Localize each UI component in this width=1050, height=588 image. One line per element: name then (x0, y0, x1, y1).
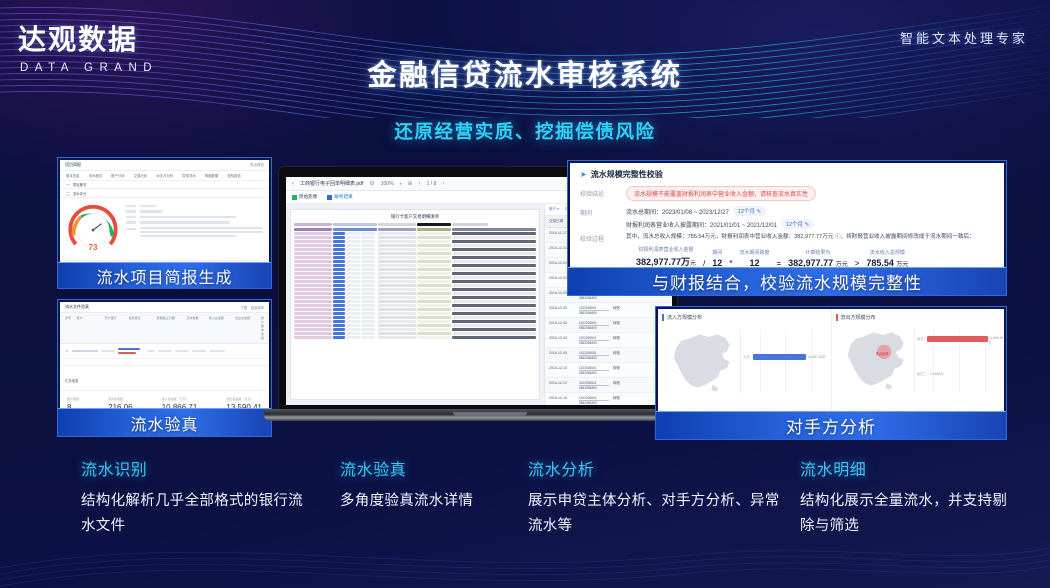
table-row[interactable] (60, 344, 269, 359)
table-row[interactable]: 2016-12-1011020265010562066490转账 (545, 363, 672, 378)
row-account: 11020265010562066490 (579, 306, 609, 315)
verify-th-2: 开户银行 (105, 316, 126, 340)
period-1-text: 财报利润表营业收入披露期间： (626, 223, 710, 229)
row-label-period: 期间 (580, 206, 626, 229)
verify-th-3: 验真结论 (129, 316, 154, 340)
chart-1-bar (927, 336, 989, 342)
doc-title: 银行卡客户交易明细清单 (294, 214, 536, 220)
row-date: 2016-12-15 (549, 396, 575, 405)
row-note: 转账 (613, 381, 631, 390)
page-subtitle: 还原经营实质、挖掘偿债风险 (0, 118, 1050, 144)
caption-counterparty: 对手方分析 (656, 411, 1006, 439)
verify-th-6: 收入总金额 (209, 316, 232, 340)
row-note: 转账 (613, 366, 631, 375)
row-label-process: 校验过程 (580, 234, 626, 268)
table-row[interactable]: 2016-12-0511020265010562066490转账 (545, 348, 672, 363)
brand-tagline: 智能文本处理专家 (900, 28, 1028, 47)
mode-tab-0[interactable]: 原始影像 (292, 194, 317, 200)
report-header-title: 项目简报 (65, 162, 81, 168)
row-date: 2016-12-03 (549, 321, 575, 330)
term-head-0: 财报利润表营业收入金额 (636, 246, 696, 253)
slide-canvas: 达观数据 DATA GRAND 智能文本处理专家 金融信贷流水审核系统 还原经营… (0, 0, 1050, 588)
panel-completeness[interactable]: ➤ 流水规模完整性校验 校验结论 流水规模不能覆盖财报利润表中营业收入金额，请核… (567, 160, 1007, 296)
verify-action-0[interactable]: 下载 (241, 306, 248, 310)
row-account: 11020265010562066490 (579, 366, 609, 375)
table-row[interactable]: 2016-12-0311020265010562066490转账 (545, 303, 672, 318)
row-note: 转账 (613, 306, 631, 315)
caption-report: 流水项目简报生成 (58, 262, 271, 288)
row-note: 转账 (613, 396, 631, 405)
row-note: 转账 (613, 321, 631, 330)
page-total: 8 (434, 181, 437, 187)
chevron-down-icon[interactable]: ▾ (400, 181, 402, 186)
chart-0-bar-value: 15,467.84万 (808, 354, 826, 359)
row-note: 转账 (613, 351, 631, 360)
feature-column-2: 流水分析 展示申贷主体分析、对手方分析、异常流水等 (528, 456, 783, 539)
settings-icon[interactable]: ⚙ (369, 180, 374, 187)
laptop-hinge-notch (453, 412, 527, 416)
gauge-value: 73 (66, 243, 120, 252)
row-date: 2016-12-10 (549, 366, 575, 375)
period-1-tag[interactable]: 12个月 ✎ (781, 219, 814, 229)
verify-header-title: 流水文件验真 (65, 304, 89, 310)
report-section-1: 一、项目概况 (66, 182, 86, 187)
formula-row: 财报利润表营业收入金额 382,977.77万元 / 期间 12 * 流水期间跨… (626, 246, 994, 268)
period-0-text: 流水总期间： (626, 210, 662, 216)
chart-1-second-label: 出方二：13,646万 (917, 371, 944, 376)
row-date: 2016-12-05 (549, 351, 575, 360)
completeness-title: 流水规模完整性校验 (591, 169, 663, 180)
period-1-range: 2021/01/01 ~ 2021/12/01 (710, 223, 777, 229)
report-tab-5[interactable]: 异常流水 (182, 173, 196, 178)
row-note: 转账 (613, 336, 631, 345)
verify-sum-label-1: 流水总笔数 (108, 397, 132, 401)
chevron-right-icon[interactable]: ➤ (580, 170, 587, 179)
chart-1-bar-label: 出方 (917, 337, 924, 342)
zoom-reset-icon[interactable]: ⊕ (408, 180, 413, 187)
china-map-inflow (662, 325, 740, 397)
panel-counterparty[interactable]: 流入方规模分布 入方 15,467.84万 (655, 306, 1007, 440)
chart-1-title: 流出方规模分布 (836, 314, 1001, 321)
row-account: 11020265010562066490 (579, 321, 609, 330)
term-value-0: 382,977.77万 (636, 257, 690, 267)
chart-0-title: 流入方规模分布 (662, 314, 827, 321)
row-date: 2016-12-03 (549, 306, 575, 315)
report-tab-4[interactable]: 对手方分析 (156, 173, 173, 178)
verify-sum-label-2: 收入总金额（万元） (162, 397, 198, 401)
row-date: 2016-12-04 (549, 336, 575, 345)
filter-account[interactable]: 账户 ▾ (549, 207, 559, 212)
report-tab-0[interactable]: 基本信息 (66, 173, 80, 178)
term-head-8: 流水收入总规模 (866, 249, 908, 256)
page-current: 1 (427, 181, 430, 187)
verify-action-1[interactable]: 批量操作 (251, 306, 264, 310)
feature-desc-2: 展示申贷主体分析、对手方分析、异常流水等 (528, 489, 783, 539)
feature-desc-3: 结构化展示全量流水，并支持剔除与筛选 (800, 489, 1015, 539)
report-section-2: 二、流水评分 (66, 191, 86, 196)
screenshot-report: 项目简报 导出报告 基本信息 流水概览 账户分析 交易分析 对手方分析 异常流水… (60, 160, 269, 264)
table-row[interactable]: 2016-12-0311020265010562066490转账 (545, 318, 672, 333)
screenshot-verify: 流水文件验真 下载 批量操作 序号 账户 开户银行 验真结论 账期起止日期 流水… (60, 302, 269, 410)
feature-desc-1: 多角度验真流水详情 (340, 489, 540, 514)
gauge-chart: 73 (66, 202, 120, 256)
chart-0-bar-label: 入方 (743, 355, 750, 360)
checkbox-icon[interactable] (327, 195, 332, 200)
report-export-button[interactable]: 导出报告 (250, 163, 264, 168)
verify-th-7: 支出总金额 (235, 316, 258, 340)
china-map-outflow (836, 323, 914, 395)
page-title: 金融信贷流水审核系统 (0, 52, 1050, 94)
table-row[interactable]: 2016-12-1211020265010562066490转账 (545, 378, 672, 393)
term-head-2: 期间 (712, 249, 722, 256)
verify-th-5: 流水笔数 (187, 316, 206, 340)
period-0-tag[interactable]: 12个月 ✎ (733, 206, 766, 216)
verify-th-1: 账户 (77, 316, 102, 340)
mode-tab-1[interactable]: 解析结果 (327, 194, 352, 200)
feature-title-3: 流水明细 (800, 456, 1015, 480)
chart-0-bar (753, 354, 806, 360)
period-0-range: 2023/01/08 ~ 2023/12/27 (662, 210, 729, 216)
feature-column-1: 流水验真 多角度验真流水详情 (340, 456, 540, 514)
row-account: 11020265010562066490 (579, 351, 609, 360)
term-head-4: 流水期间跨度 (739, 249, 769, 256)
feature-column-3: 流水明细 结构化展示全量流水，并支持剔除与筛选 (800, 456, 1015, 539)
zoom-level[interactable]: 100% (381, 181, 394, 187)
alert-badge: 流水规模不能覆盖财报利润表中营业收入金额，请核查流水真实性 (626, 186, 816, 201)
term-head-6: 计算结果为 (788, 249, 848, 256)
back-icon[interactable]: ‹ (292, 181, 294, 187)
viewer-filename: 工商银行电子回单明细表.pdf (300, 180, 363, 187)
report-tab-3[interactable]: 交易分析 (134, 173, 148, 178)
row-account: 11020265010562066490 (579, 381, 609, 390)
verify-th-4: 账期起止日期 (157, 316, 184, 340)
chart-1-bar-value: 13,646.46万 (988, 336, 1003, 345)
feature-title-1: 流水验真 (340, 456, 540, 480)
panel-verify[interactable]: 流水文件验真 下载 批量操作 序号 账户 开户银行 验真结论 账期起止日期 流水… (57, 299, 272, 437)
row-account: 11020265010562066490 (579, 336, 609, 345)
verify-th-8: 账户期末余额 (261, 316, 264, 340)
next-page-icon[interactable]: › (442, 181, 444, 187)
screenshot-completeness: ➤ 流水规模完整性校验 校验结论 流水规模不能覆盖财报利润表中营业收入金额，请核… (570, 163, 1004, 269)
report-tab-7[interactable]: 校验报告 (227, 173, 241, 178)
screenshot-counterparty: 流入方规模分布 入方 15,467.84万 (658, 309, 1004, 413)
verify-summary-header: 汇总信息 (65, 379, 79, 383)
report-tab-6[interactable]: 明细数据 (205, 173, 219, 178)
feature-column-0: 流水识别 结构化解析几乎全部格式的银行流水文件 (81, 456, 316, 539)
feature-title-2: 流水分析 (528, 456, 783, 480)
table-row[interactable]: 2016-12-0411020265010562066490转账 (545, 333, 672, 348)
row-account: 11020265010562066490 (579, 396, 609, 405)
map-marker-label: 重点区域 (876, 351, 889, 356)
verify-th-0: 序号 (65, 316, 74, 340)
verify-sum-label-0: 账户数量 (67, 397, 79, 401)
feature-desc-0: 结构化解析几乎全部格式的银行流水文件 (81, 489, 316, 539)
checkbox-icon[interactable] (292, 195, 297, 200)
caption-verify: 流水验真 (58, 408, 271, 436)
panel-report[interactable]: 项目简报 导出报告 基本信息 流水概览 账户分析 交易分析 对手方分析 异常流水… (57, 157, 272, 289)
report-tab-1[interactable]: 流水概览 (89, 173, 103, 178)
prev-page-icon[interactable]: ‹ (419, 181, 421, 187)
table-row[interactable]: 2016-12-1511020265010562066490转账 (545, 393, 672, 405)
row-label-conclusion: 校验结论 (580, 189, 626, 198)
formula-note: 其中，流水总收入规模：785.54万元，财报利润表中营业收入金额：382,977… (626, 234, 994, 241)
caption-completeness: 与财报结合，校验流水规模完整性 (568, 267, 1006, 295)
row-date: 2016-12-12 (549, 381, 575, 390)
report-tab-2[interactable]: 账户分析 (111, 173, 125, 178)
feature-title-0: 流水识别 (81, 456, 316, 480)
verify-sum-label-3: 支出总金额（万元） (226, 397, 262, 401)
